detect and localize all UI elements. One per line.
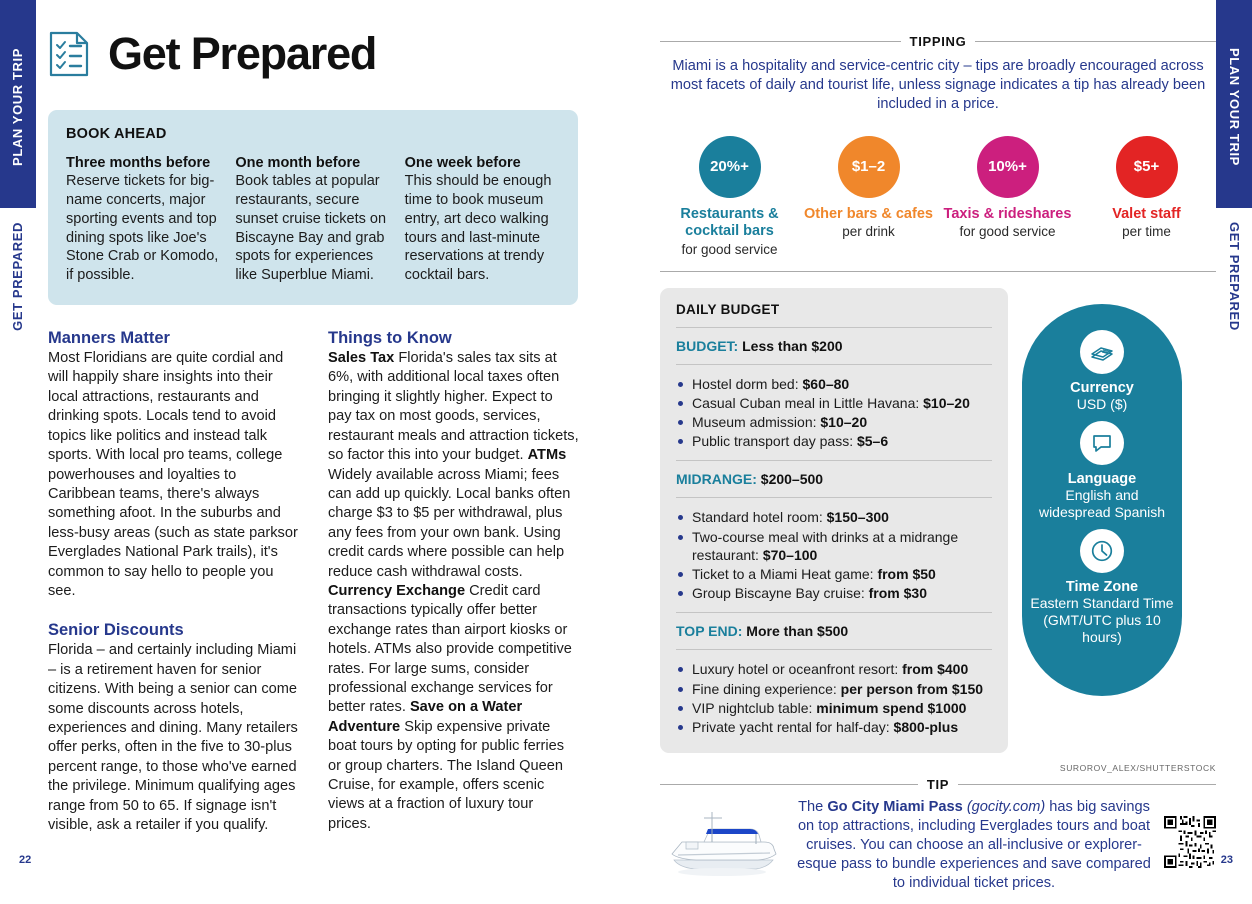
- tip-section: TIP Th: [660, 777, 1216, 893]
- book-ahead-column: One month before Book tables at popular …: [235, 155, 390, 285]
- book-ahead-column-heading: One month before: [235, 155, 390, 171]
- body-column-two: Things to Know Sales Tax Florida's sales…: [328, 329, 580, 835]
- tier-key: TOP END:: [676, 623, 742, 639]
- body-columns: Manners Matter Most Floridians are quite…: [48, 329, 638, 835]
- speech-bubble-icon: [1080, 421, 1124, 465]
- tipping-item-note: per time: [1077, 224, 1216, 239]
- fact-block-language: Language English and widespread Spanish: [1022, 421, 1182, 521]
- clock-icon: [1080, 529, 1124, 573]
- fact-text: English and widespread Spanish: [1022, 487, 1182, 521]
- book-ahead-column: One week before This should be enough ti…: [405, 155, 560, 285]
- tip-lead: The: [798, 799, 827, 815]
- book-ahead-panel: BOOK AHEAD Three months before Reserve t…: [48, 110, 578, 305]
- fact-heading: Time Zone: [1066, 579, 1138, 595]
- list-item: VIP nightclub table: minimum spend $1000: [676, 699, 992, 717]
- budget-and-facts-row: DAILY BUDGET BUDGET: Less than $200 Host…: [660, 288, 1216, 753]
- tip-text: The Go City Miami Pass (gocity.com) has …: [790, 798, 1158, 893]
- entry-term: ATMs: [528, 447, 567, 463]
- budget-tier-heading: MIDRANGE: $200–500: [676, 471, 992, 487]
- photo-credit: SUROROV_ALEX/SHUTTERSTOCK: [660, 763, 1216, 773]
- list-item: Private yacht rental for half-day: $800-…: [676, 718, 992, 736]
- right-tab-get-prepared: GET PREPARED: [1227, 222, 1242, 331]
- tipping-amount-badge: 20%+: [699, 136, 761, 198]
- budget-tier-heading: TOP END: More than $500: [676, 623, 992, 639]
- rule-line-left: [660, 41, 901, 42]
- item-price: $5–6: [857, 433, 888, 449]
- item-text: Standard hotel room:: [692, 509, 827, 525]
- money-stack-icon: [1080, 330, 1124, 374]
- entry-text: Skip expensive private boat tours by opt…: [328, 719, 564, 832]
- body-column-one: Manners Matter Most Floridians are quite…: [48, 329, 300, 835]
- book-ahead-column-heading: Three months before: [66, 155, 221, 171]
- tip-heading: TIP: [927, 777, 949, 792]
- book-ahead-column: Three months before Reserve tickets for …: [66, 155, 221, 285]
- daily-budget-title: DAILY BUDGET: [676, 302, 992, 317]
- tipping-item-note: for good service: [938, 224, 1077, 239]
- fact-heading: Language: [1068, 471, 1136, 487]
- right-page: TIPPING Miami is a hospitality and servi…: [660, 0, 1216, 904]
- fact-heading: Currency: [1070, 380, 1134, 396]
- tipping-item-label: Valet staff: [1077, 206, 1216, 223]
- item-text: Public transport day pass:: [692, 433, 857, 449]
- tipping-item: 10%+ Taxis & rideshares for good service: [938, 136, 1077, 257]
- item-text: VIP nightclub table:: [692, 700, 816, 716]
- entry-text: Credit card transactions typically offer…: [328, 583, 572, 715]
- tipping-header: TIPPING: [660, 34, 1216, 49]
- book-ahead-column-heading: One week before: [405, 155, 560, 171]
- tipping-amount-badge: 10%+: [977, 136, 1039, 198]
- tipping-heading: TIPPING: [910, 34, 967, 49]
- divider: [676, 364, 992, 365]
- tipping-circles: 20%+ Restaurants & cocktail bars for goo…: [660, 136, 1216, 257]
- left-page: Get Prepared BOOK AHEAD Three months bef…: [48, 0, 638, 904]
- item-price: from $50: [877, 566, 935, 582]
- page-title: Get Prepared: [108, 28, 376, 80]
- motor-boat-photo: [660, 798, 784, 886]
- item-price: from $30: [869, 585, 927, 601]
- left-tab-get-prepared: GET PREPARED: [10, 222, 25, 331]
- manners-matter-text: Most Floridians are quite cordial and wi…: [48, 349, 300, 601]
- right-tab-plan-your-trip: PLAN YOUR TRIP: [1227, 48, 1242, 166]
- item-price: $70–100: [763, 547, 818, 563]
- manners-matter-heading: Manners Matter: [48, 329, 300, 348]
- things-to-know-heading: Things to Know: [328, 329, 580, 348]
- tipping-item-note: for good service: [660, 242, 799, 257]
- tip-site: (gocity.com): [963, 799, 1045, 815]
- rule-line-right: [958, 784, 1216, 785]
- tipping-item-note: per drink: [799, 224, 938, 239]
- left-tab-plan-your-trip: PLAN YOUR TRIP: [10, 48, 25, 166]
- tier-value: More than $500: [742, 623, 848, 639]
- left-page-number: 22: [19, 854, 31, 866]
- budget-tier-heading: BUDGET: Less than $200: [676, 338, 992, 354]
- book-ahead-column-text: Reserve tickets for big-name concerts, m…: [66, 172, 221, 285]
- right-page-number: 23: [1221, 854, 1233, 866]
- divider: [676, 612, 992, 613]
- list-item: Public transport day pass: $5–6: [676, 432, 992, 450]
- list-item: Ticket to a Miami Heat game: from $50: [676, 565, 992, 583]
- list-item: Group Biscayne Bay cruise: from $30: [676, 584, 992, 602]
- budget-tier-list: Luxury hotel or oceanfront resort: from …: [676, 660, 992, 736]
- budget-tier-list: Standard hotel room: $150–300 Two-course…: [676, 508, 992, 602]
- entry-term: Currency Exchange: [328, 583, 465, 599]
- tipping-item-label: Taxis & rideshares: [938, 206, 1077, 223]
- tipping-intro-text: Miami is a hospitality and service-centr…: [660, 57, 1216, 114]
- book-ahead-column-text: This should be enough time to book museu…: [405, 172, 560, 285]
- tier-value: $200–500: [757, 471, 823, 487]
- entry-term: Sales Tax: [328, 350, 394, 366]
- qr-code-icon[interactable]: [1164, 816, 1216, 868]
- senior-discounts-heading: Senior Discounts: [48, 621, 300, 640]
- item-text: Two-course meal with drinks at a midrang…: [692, 529, 958, 563]
- tipping-item-label: Other bars & cafes: [799, 206, 938, 223]
- item-price: per person from $150: [841, 681, 983, 697]
- item-price: $150–300: [827, 509, 889, 525]
- divider: [676, 460, 992, 461]
- list-item: Two-course meal with drinks at a midrang…: [676, 528, 992, 564]
- item-text: Hostel dorm bed:: [692, 376, 803, 392]
- tipping-amount-badge: $5+: [1116, 136, 1178, 198]
- book-ahead-columns: Three months before Reserve tickets for …: [66, 155, 560, 285]
- tip-header: TIP: [660, 777, 1216, 792]
- fact-block-currency: Currency USD ($): [1070, 330, 1134, 413]
- daily-budget-panel: DAILY BUDGET BUDGET: Less than $200 Host…: [660, 288, 1008, 753]
- tipping-item: $1–2 Other bars & cafes per drink: [799, 136, 938, 257]
- book-ahead-heading: BOOK AHEAD: [66, 126, 560, 142]
- item-price: $10–20: [820, 414, 867, 430]
- item-text: Casual Cuban meal in Little Havana:: [692, 395, 923, 411]
- budget-tier-list: Hostel dorm bed: $60–80 Casual Cuban mea…: [676, 375, 992, 451]
- list-item: Standard hotel room: $150–300: [676, 508, 992, 526]
- entry-text: Widely available across Miami; fees can …: [328, 467, 570, 580]
- tipping-item: 20%+ Restaurants & cocktail bars for goo…: [660, 136, 799, 257]
- tier-value: Less than $200: [738, 338, 842, 354]
- divider: [676, 497, 992, 498]
- list-item: Casual Cuban meal in Little Havana: $10–…: [676, 394, 992, 412]
- item-text: Luxury hotel or oceanfront resort:: [692, 661, 902, 677]
- tipping-amount-badge: $1–2: [838, 136, 900, 198]
- fact-text: USD ($): [1071, 396, 1134, 413]
- list-item: Museum admission: $10–20: [676, 413, 992, 431]
- book-ahead-column-text: Book tables at popular restaurants, secu…: [235, 172, 390, 285]
- item-text: Museum admission:: [692, 414, 820, 430]
- item-price: from $400: [902, 661, 968, 677]
- rule-line-left: [660, 784, 918, 785]
- things-to-know-entries: Sales Tax Florida's sales tax sits at 6%…: [328, 349, 580, 834]
- guidebook-spread: PLAN YOUR TRIP GET PREPARED 22 PLAN YOUR…: [0, 0, 1252, 904]
- fact-block-time-zone: Time Zone Eastern Standard Time (GMT/UTC…: [1022, 529, 1182, 646]
- item-price: $60–80: [803, 376, 850, 392]
- page-title-row: Get Prepared: [48, 28, 638, 80]
- rule-line-right: [975, 41, 1216, 42]
- checklist-icon: [48, 30, 90, 78]
- fact-text: Eastern Standard Time (GMT/UTC plus 10 h…: [1022, 595, 1182, 646]
- tipping-bottom-rule: [660, 271, 1216, 272]
- divider: [676, 649, 992, 650]
- tipping-item: $5+ Valet staff per time: [1077, 136, 1216, 257]
- item-text: Fine dining experience:: [692, 681, 841, 697]
- divider: [676, 327, 992, 328]
- tipping-item-label: Restaurants & cocktail bars: [660, 206, 799, 241]
- senior-discounts-text: Florida – and certainly including Miami …: [48, 641, 300, 835]
- tip-content-row: The Go City Miami Pass (gocity.com) has …: [660, 798, 1216, 893]
- list-item: Hostel dorm bed: $60–80: [676, 375, 992, 393]
- item-text: Private yacht rental for half-day:: [692, 719, 894, 735]
- item-price: $800-plus: [894, 719, 959, 735]
- list-item: Fine dining experience: per person from …: [676, 680, 992, 698]
- item-price: $10–20: [923, 395, 970, 411]
- quick-facts-oval: Currency USD ($) Language English and wi…: [1022, 304, 1182, 696]
- tier-key: BUDGET:: [676, 338, 738, 354]
- item-text: Group Biscayne Bay cruise:: [692, 585, 869, 601]
- tier-key: MIDRANGE:: [676, 471, 757, 487]
- item-text: Ticket to a Miami Heat game:: [692, 566, 877, 582]
- tip-brand: Go City Miami Pass: [827, 799, 962, 815]
- list-item: Luxury hotel or oceanfront resort: from …: [676, 660, 992, 678]
- item-price: minimum spend $1000: [816, 700, 966, 716]
